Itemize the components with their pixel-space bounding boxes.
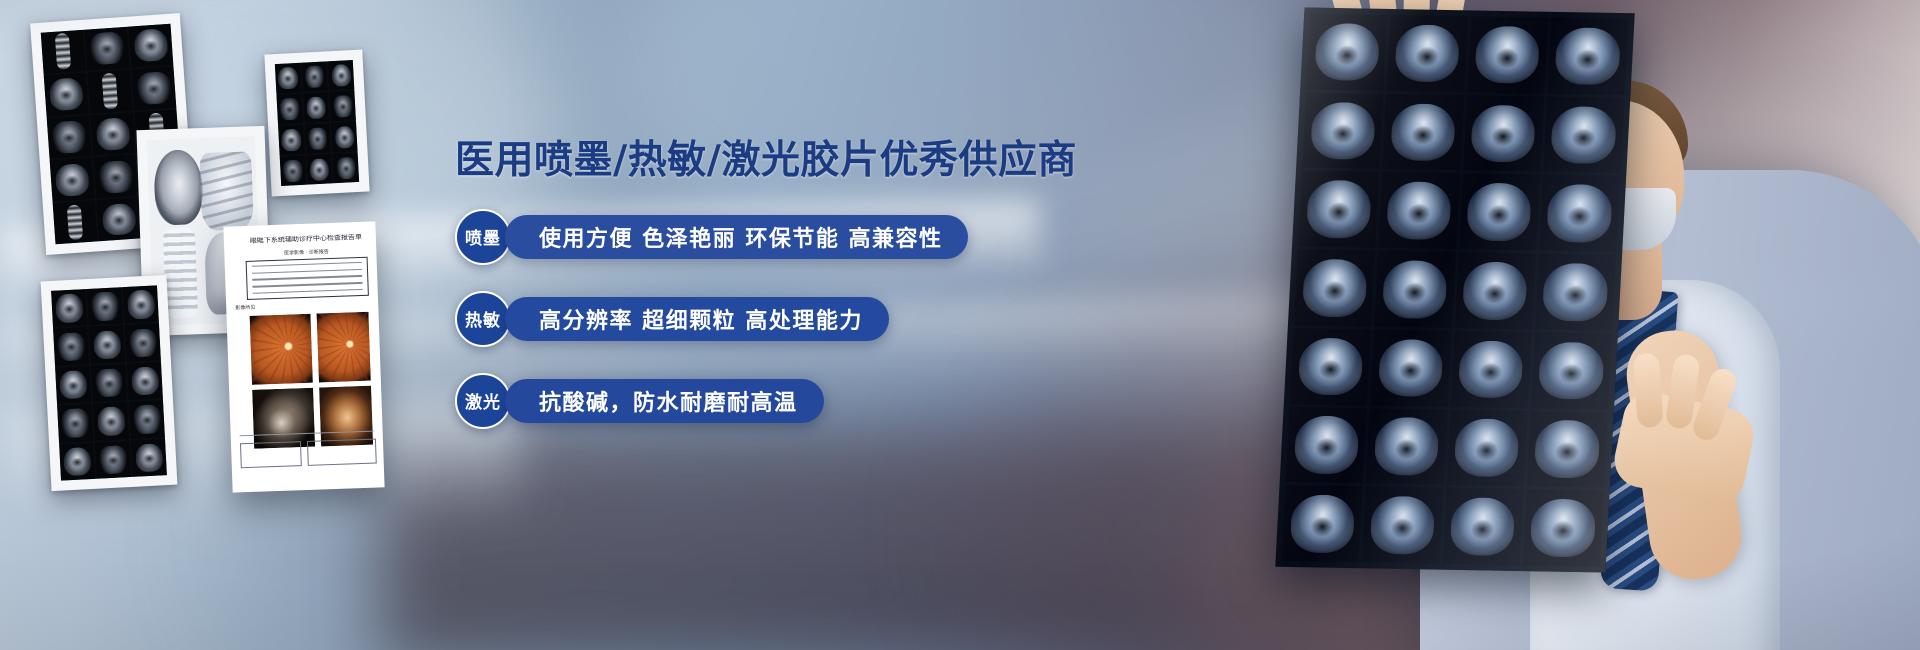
report-info-box	[246, 256, 369, 299]
brain-mri-film-sheet	[264, 50, 369, 197]
report-footer	[240, 431, 375, 477]
feature-row-thermal: 热敏 高分辨率 超细颗粒 高处理能力	[455, 291, 1095, 347]
large-mri-film	[1275, 8, 1634, 573]
report-sheet: 眼眶下系统辅助诊疗中心检查报告单 医学影像 · 诊断报告 影像所见	[223, 221, 384, 492]
mri-slice-grid	[1282, 14, 1629, 567]
mri-film-sheet	[41, 275, 178, 491]
feature-text-thermal: 高分辨率 超细颗粒 高处理能力	[505, 297, 889, 341]
feature-row-laser: 激光 抗酸碱，防水耐磨耐高温	[455, 373, 1095, 429]
laser-chip-icon: 激光	[455, 373, 511, 429]
film-collage: 眼眶下系统辅助诊疗中心检查报告单 医学影像 · 诊断报告 影像所见	[0, 0, 420, 650]
fundus-photo	[315, 309, 373, 384]
hero-banner: 眼眶下系统辅助诊疗中心检查报告单 医学影像 · 诊断报告 影像所见	[0, 0, 1920, 650]
feature-row-inkjet: 喷墨 使用方便 色泽艳丽 环保节能 高兼容性	[455, 209, 1095, 265]
ink-chip-icon: 喷墨	[455, 209, 511, 265]
report-section-label: 影像所见	[235, 304, 255, 312]
thermal-chip-icon: 热敏	[455, 291, 511, 347]
doctor-figure	[1160, 0, 1920, 650]
feature-text-inkjet: 使用方便 色泽艳丽 环保节能 高兼容性	[505, 215, 968, 259]
feature-text-laser: 抗酸碱，防水耐磨耐高温	[505, 379, 824, 423]
fundus-photo	[248, 311, 315, 386]
hero-content: 医用喷墨/热敏/激光胶片优秀供应商 喷墨 使用方便 色泽艳丽 环保节能 高兼容性…	[455, 140, 1095, 455]
page-title: 医用喷墨/热敏/激光胶片优秀供应商	[455, 140, 1095, 183]
